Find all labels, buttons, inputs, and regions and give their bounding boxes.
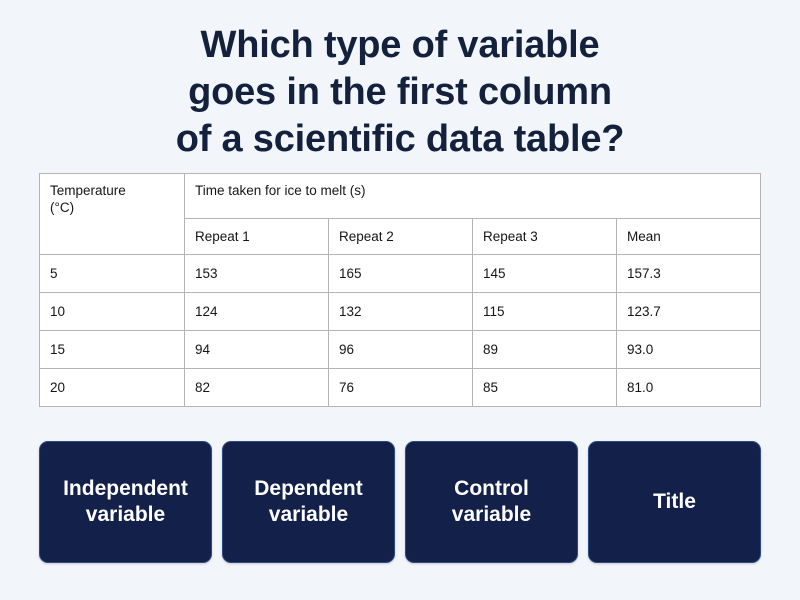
cell-repeat-1: 82 bbox=[185, 369, 329, 407]
table-row: 15 94 96 89 93.0 bbox=[40, 331, 761, 369]
header-cell-repeat-1: Repeat 1 bbox=[185, 219, 329, 255]
answer-label: Independent variable bbox=[48, 476, 203, 528]
question-title: Which type of variable goes in the first… bbox=[0, 22, 800, 163]
cell-repeat-2: 132 bbox=[329, 293, 473, 331]
answer-button-independent-variable[interactable]: Independent variable bbox=[39, 441, 212, 563]
table-header-row-top: Temperature (°C) Time taken for ice to m… bbox=[40, 174, 761, 219]
cell-repeat-2: 96 bbox=[329, 331, 473, 369]
answer-label: Control variable bbox=[414, 476, 569, 528]
cell-repeat-1: 153 bbox=[185, 255, 329, 293]
header-temperature-line2: (°C) bbox=[50, 200, 74, 215]
cell-mean: 93.0 bbox=[617, 331, 761, 369]
header-cell-temperature: Temperature (°C) bbox=[40, 174, 185, 255]
header-temperature-line1: Temperature bbox=[50, 183, 126, 198]
header-cell-repeat-2: Repeat 2 bbox=[329, 219, 473, 255]
answer-button-dependent-variable[interactable]: Dependent variable bbox=[222, 441, 395, 563]
header-cell-repeat-3: Repeat 3 bbox=[473, 219, 617, 255]
cell-repeat-3: 89 bbox=[473, 331, 617, 369]
table-row: 20 82 76 85 81.0 bbox=[40, 369, 761, 407]
cell-repeat-3: 115 bbox=[473, 293, 617, 331]
question-line-3: of a scientific data table? bbox=[0, 116, 800, 163]
answer-label: Title bbox=[653, 489, 696, 515]
science-data-table: Temperature (°C) Time taken for ice to m… bbox=[39, 173, 761, 407]
cell-temperature: 20 bbox=[40, 369, 185, 407]
cell-temperature: 15 bbox=[40, 331, 185, 369]
cell-repeat-2: 76 bbox=[329, 369, 473, 407]
cell-mean: 123.7 bbox=[617, 293, 761, 331]
cell-repeat-1: 94 bbox=[185, 331, 329, 369]
cell-repeat-3: 85 bbox=[473, 369, 617, 407]
cell-repeat-1: 124 bbox=[185, 293, 329, 331]
answer-options: Independent variable Dependent variable … bbox=[39, 441, 761, 563]
data-table-container: Temperature (°C) Time taken for ice to m… bbox=[39, 173, 761, 407]
table-row: 10 124 132 115 123.7 bbox=[40, 293, 761, 331]
cell-mean: 81.0 bbox=[617, 369, 761, 407]
answer-button-control-variable[interactable]: Control variable bbox=[405, 441, 578, 563]
header-cell-mean: Mean bbox=[617, 219, 761, 255]
cell-temperature: 10 bbox=[40, 293, 185, 331]
cell-mean: 157.3 bbox=[617, 255, 761, 293]
cell-repeat-3: 145 bbox=[473, 255, 617, 293]
cell-repeat-2: 165 bbox=[329, 255, 473, 293]
answer-button-title[interactable]: Title bbox=[588, 441, 761, 563]
question-line-1: Which type of variable bbox=[0, 22, 800, 69]
cell-temperature: 5 bbox=[40, 255, 185, 293]
question-line-2: goes in the first column bbox=[0, 69, 800, 116]
header-cell-group: Time taken for ice to melt (s) bbox=[185, 174, 761, 219]
table-row: 5 153 165 145 157.3 bbox=[40, 255, 761, 293]
answer-label: Dependent variable bbox=[231, 476, 386, 528]
